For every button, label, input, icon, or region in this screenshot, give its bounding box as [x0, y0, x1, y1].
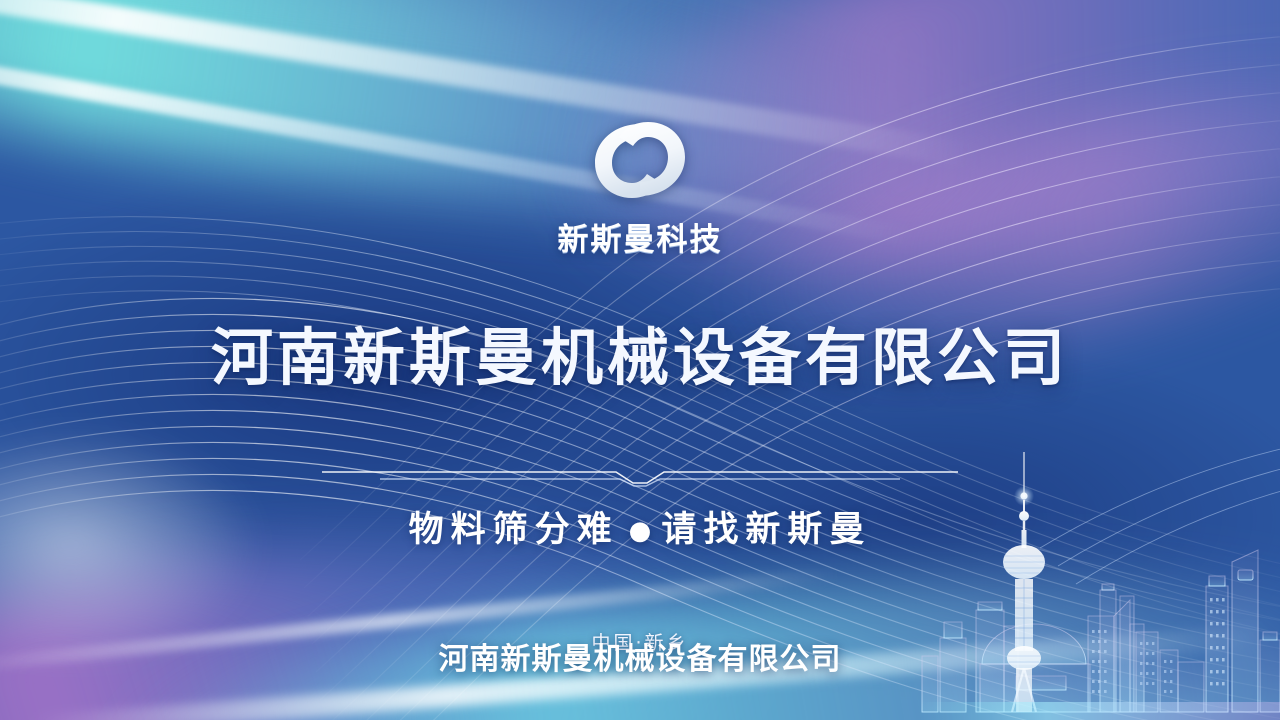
slogan-separator-dot: ●: [619, 516, 662, 546]
page-title: 河南新斯曼机械设备有限公司: [211, 307, 1069, 397]
slogan: 物料筛分难●请找新斯曼: [409, 501, 872, 552]
slide-content: 新斯曼科技 河南新斯曼机械设备有限公司 物料筛分难●请找新斯曼 中国·新乡: [0, 0, 1280, 720]
caption-company-name: 河南新斯曼机械设备有限公司: [0, 634, 1280, 678]
title-slide: 新斯曼科技 河南新斯曼机械设备有限公司 物料筛分难●请找新斯曼 中国·新乡 河南…: [0, 0, 1280, 720]
chevron-divider: [320, 465, 960, 487]
brand-name: 新斯曼科技: [558, 214, 723, 259]
slogan-left: 物料筛分难: [409, 510, 619, 550]
slogan-right: 请找新斯曼: [661, 510, 871, 550]
chevron-divider-icon: [320, 465, 960, 487]
nsm-swirl-logo-icon: [579, 112, 701, 208]
logo-lockup: 新斯曼科技: [558, 112, 723, 259]
